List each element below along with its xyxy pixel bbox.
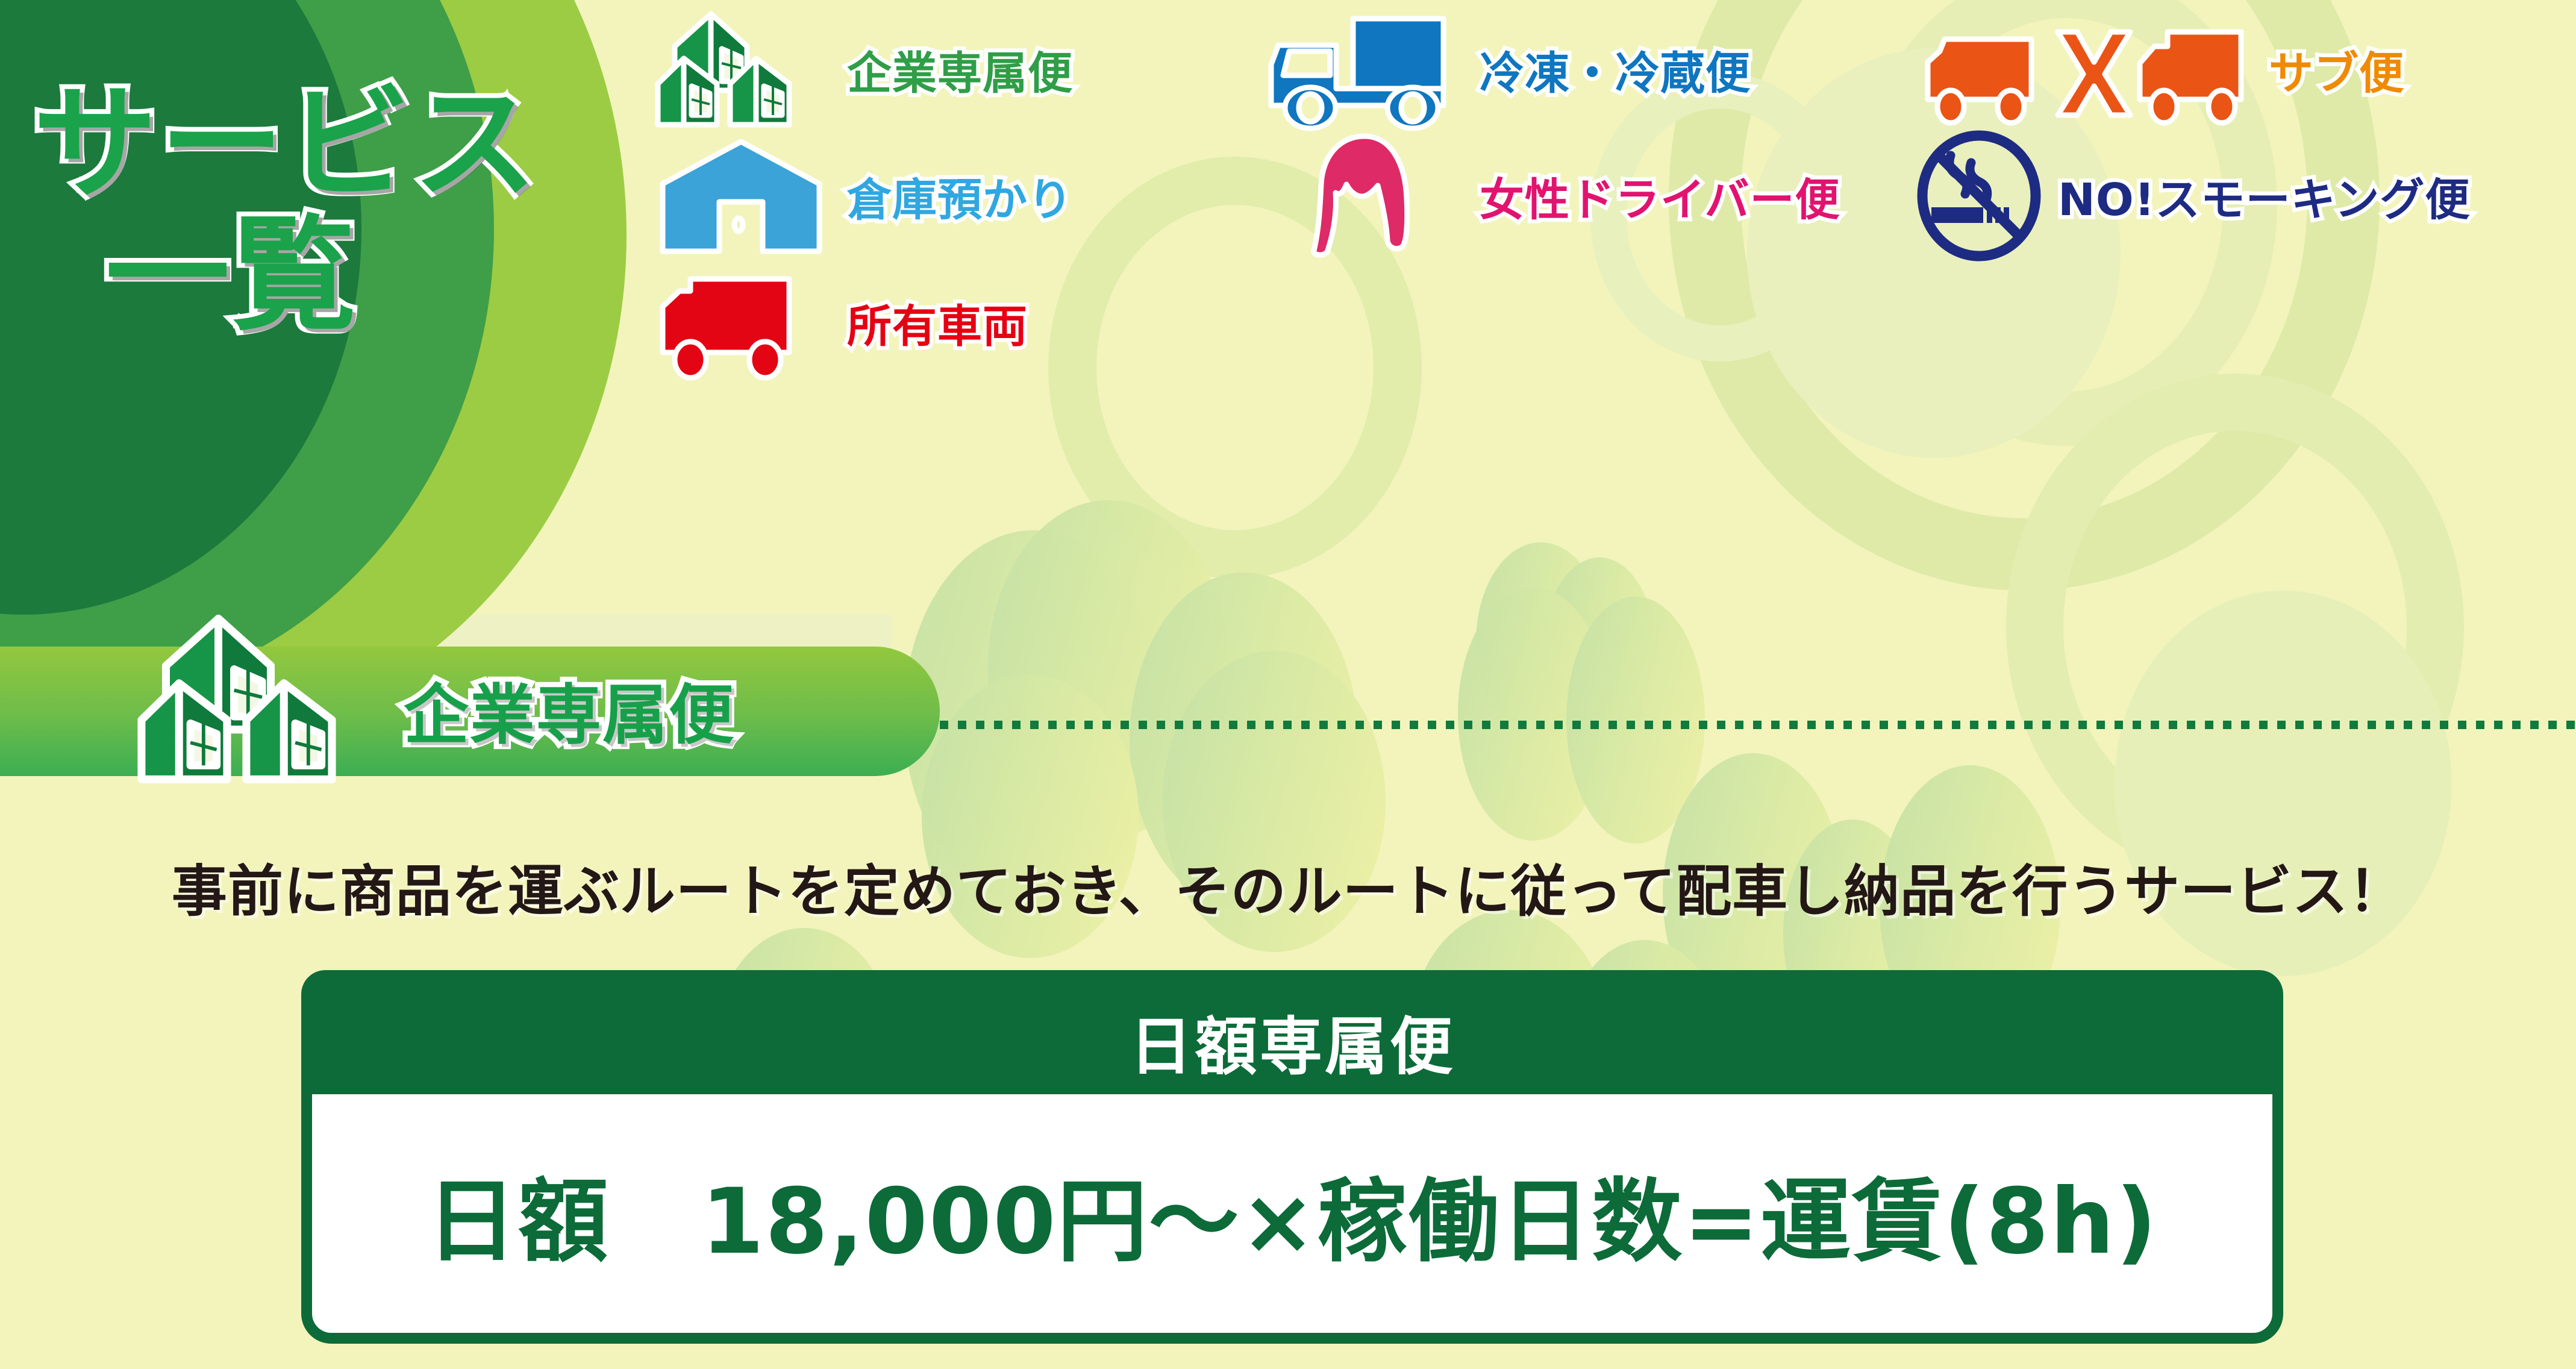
price-formula: 日額 18,000円〜×稼働日数=運賃(8h) xyxy=(427,1148,2158,1279)
price-card-header-label: 日額専属便 xyxy=(1130,995,1455,1086)
service-label: サブ便 xyxy=(2269,37,2404,102)
banner-dotted-rule xyxy=(940,721,2576,729)
three-buildings-icon xyxy=(651,9,831,130)
page-title-line-1: サービス xyxy=(33,78,575,210)
decor-ring xyxy=(2006,374,2464,880)
service-item-frozen-refrigerated[interactable]: 冷凍・冷蔵便 xyxy=(1265,9,1916,130)
section-banner-label: 企業専属便 xyxy=(404,663,735,757)
service-item-no-smoking[interactable]: NO!スモーキング便 xyxy=(1916,131,2572,261)
service-row: 所有車両 xyxy=(651,265,2572,380)
service-item-corporate-dedicated[interactable]: 企業専属便 xyxy=(651,9,1265,130)
price-card: 日額専属便 日額 18,000円〜×稼働日数=運賃(8h) xyxy=(301,970,2283,1344)
decor-cloud xyxy=(1476,542,1605,741)
decor-cloud xyxy=(988,500,1229,838)
two-orange-trucks-cross-icon xyxy=(1916,15,2253,124)
service-row: 企業専属便 xyxy=(651,12,2572,127)
banner-three-buildings-icon xyxy=(130,612,395,786)
red-truck-icon xyxy=(651,268,831,377)
service-label: 冷凍・冷蔵便 xyxy=(1480,37,1751,102)
service-item-sub-delivery[interactable]: サブ便 xyxy=(1916,15,2572,124)
service-label: 企業専属便 xyxy=(847,37,1073,102)
price-card-body: 日額 18,000円〜×稼働日数=運賃(8h) xyxy=(301,1083,2283,1344)
long-hair-woman-icon xyxy=(1265,133,1464,259)
warehouse-icon xyxy=(651,136,831,256)
page-title: サービス 一覧 xyxy=(33,78,575,342)
service-list: 企業専属便 xyxy=(651,12,2572,380)
section-description: 事前に商品を運ぶルートを定めておき、そのルートに従って配車し納品を行うサービス！ xyxy=(0,847,2576,927)
service-label: 所有車両 xyxy=(847,290,1028,355)
page-title-line-2: 一覧 xyxy=(33,210,575,341)
service-item-female-driver[interactable]: 女性ドライバー便 xyxy=(1265,133,1916,259)
decor-cloud xyxy=(1458,587,1608,841)
service-label: 女性ドライバー便 xyxy=(1480,164,1840,228)
service-row: 倉庫預かり 女性ドライバー便 xyxy=(651,139,2572,253)
no-smoking-icon xyxy=(1916,131,2042,261)
decor-cloud xyxy=(1566,597,1705,844)
blue-truck-icon xyxy=(1265,9,1464,130)
service-item-owned-vehicles[interactable]: 所有車両 xyxy=(651,268,1265,377)
service-item-warehouse-storage[interactable]: 倉庫預かり xyxy=(651,136,1265,256)
service-label: 倉庫預かり xyxy=(847,164,1073,228)
service-label: NO!スモーキング便 xyxy=(2058,164,2470,228)
service-list-page: サービス 一覧 xyxy=(0,0,2576,1369)
